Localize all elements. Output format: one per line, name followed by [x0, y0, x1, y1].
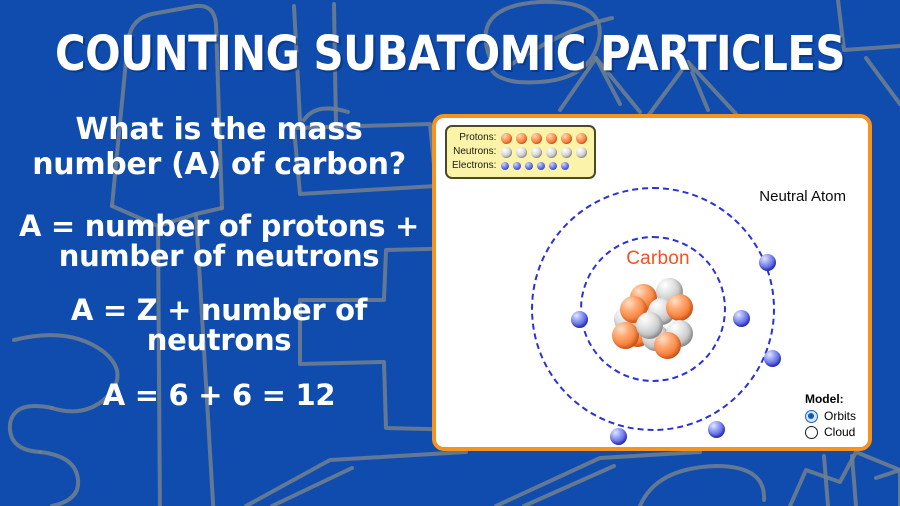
legend-row-electrons: Electrons: [452, 159, 587, 173]
model-group-title: Model: [805, 392, 856, 406]
legend-p-dot [516, 133, 527, 144]
legend-row-neutrons: Neutrons: [452, 145, 587, 159]
nucleus-cluster[interactable] [612, 276, 696, 356]
legend-label-electrons: Electrons: [452, 159, 501, 173]
legend-n-dot [531, 147, 542, 158]
legend-e-dot [537, 162, 545, 170]
electron-outer-4[interactable] [610, 428, 627, 445]
element-label: Carbon [610, 248, 706, 270]
proton-sphere [654, 332, 681, 359]
electron-inner-2[interactable] [733, 310, 750, 327]
legend-label-protons: Protons: [452, 131, 501, 145]
slide-root: Counting Subatomic Particles What is the… [0, 0, 900, 506]
legend-p-dot [546, 133, 557, 144]
slide-title: Counting Subatomic Particles [0, 25, 900, 82]
atom-state-label: Neutral Atom [759, 188, 846, 205]
legend-e-dot [525, 162, 533, 170]
equation-line-1b: number of neutrons [0, 239, 438, 273]
legend-n-dot [576, 147, 587, 158]
question-text: What is the mass number (A) of carbon? [0, 112, 438, 183]
electron-outer-2[interactable] [764, 350, 781, 367]
legend-p-dot [576, 133, 587, 144]
electron-inner-1[interactable] [571, 311, 588, 328]
legend-n-dot [516, 147, 527, 158]
electron-outer-1[interactable] [759, 254, 776, 271]
legend-e-dot [561, 162, 569, 170]
particle-count-legend: Protons: Neutrons: Electrons: [445, 125, 596, 179]
model-control-group[interactable]: Model: Orbits Cloud [805, 392, 856, 439]
radio-orbits-icon[interactable] [805, 410, 818, 423]
radio-cloud-icon[interactable] [805, 426, 818, 439]
electron-outer-3[interactable] [708, 421, 725, 438]
legend-e-dot [549, 162, 557, 170]
legend-p-dot [531, 133, 542, 144]
equation-line-2: A = Z + number of [0, 293, 438, 327]
legend-p-dot [561, 133, 572, 144]
radio-orbits-label: Orbits [824, 409, 856, 423]
legend-dots-neutrons [501, 147, 587, 158]
radio-cloud-label: Cloud [824, 425, 855, 439]
equation-line-2b: neutrons [0, 323, 438, 357]
simulation-canvas: Protons: Neutrons: Electrons: [436, 118, 868, 447]
legend-p-dot [501, 133, 512, 144]
legend-row-protons: Protons: [452, 131, 587, 145]
legend-n-dot [501, 147, 512, 158]
legend-label-neutrons: Neutrons: [452, 145, 501, 159]
legend-e-dot [513, 162, 521, 170]
legend-n-dot [561, 147, 572, 158]
equation-line-3: A = 6 + 6 = 12 [0, 378, 438, 412]
atom-simulation-panel[interactable]: Protons: Neutrons: Electrons: [432, 114, 872, 451]
proton-sphere [612, 322, 639, 349]
legend-e-dot [501, 162, 509, 170]
radio-option-orbits[interactable]: Orbits [805, 409, 856, 423]
radio-option-cloud[interactable]: Cloud [805, 425, 856, 439]
neutron-sphere [636, 312, 663, 339]
legend-dots-protons [501, 133, 587, 144]
equation-line-1: A = number of protons + [0, 209, 438, 243]
legend-n-dot [546, 147, 557, 158]
left-text-column: What is the mass number (A) of carbon? A… [0, 112, 438, 412]
legend-dots-electrons [501, 162, 587, 170]
proton-sphere [666, 294, 693, 321]
